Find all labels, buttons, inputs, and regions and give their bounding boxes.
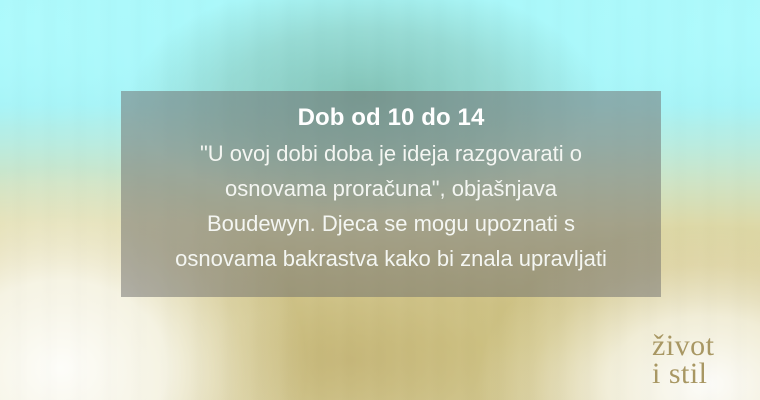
caption-title: Dob od 10 do 14	[298, 103, 485, 133]
caption-line: osnovama bakrastva kako bi znala upravlj…	[121, 241, 661, 276]
brand-logo: život i stil	[652, 331, 744, 390]
caption-line: osnovama proračuna", objašnjava	[121, 171, 661, 206]
caption-overlay-box: Dob od 10 do 14 "U ovoj dobi doba je ide…	[121, 91, 661, 297]
brand-logo-word-istil: i stil	[652, 359, 744, 390]
image-canvas: Dob od 10 do 14 "U ovoj dobi doba je ide…	[0, 0, 760, 400]
caption-line: Boudewyn. Djeca se mogu upoznati s	[121, 206, 661, 241]
caption-body: "U ovoj dobi doba je ideja razgovarati o…	[121, 136, 661, 276]
caption-line: "U ovoj dobi doba je ideja razgovarati o	[121, 136, 661, 171]
